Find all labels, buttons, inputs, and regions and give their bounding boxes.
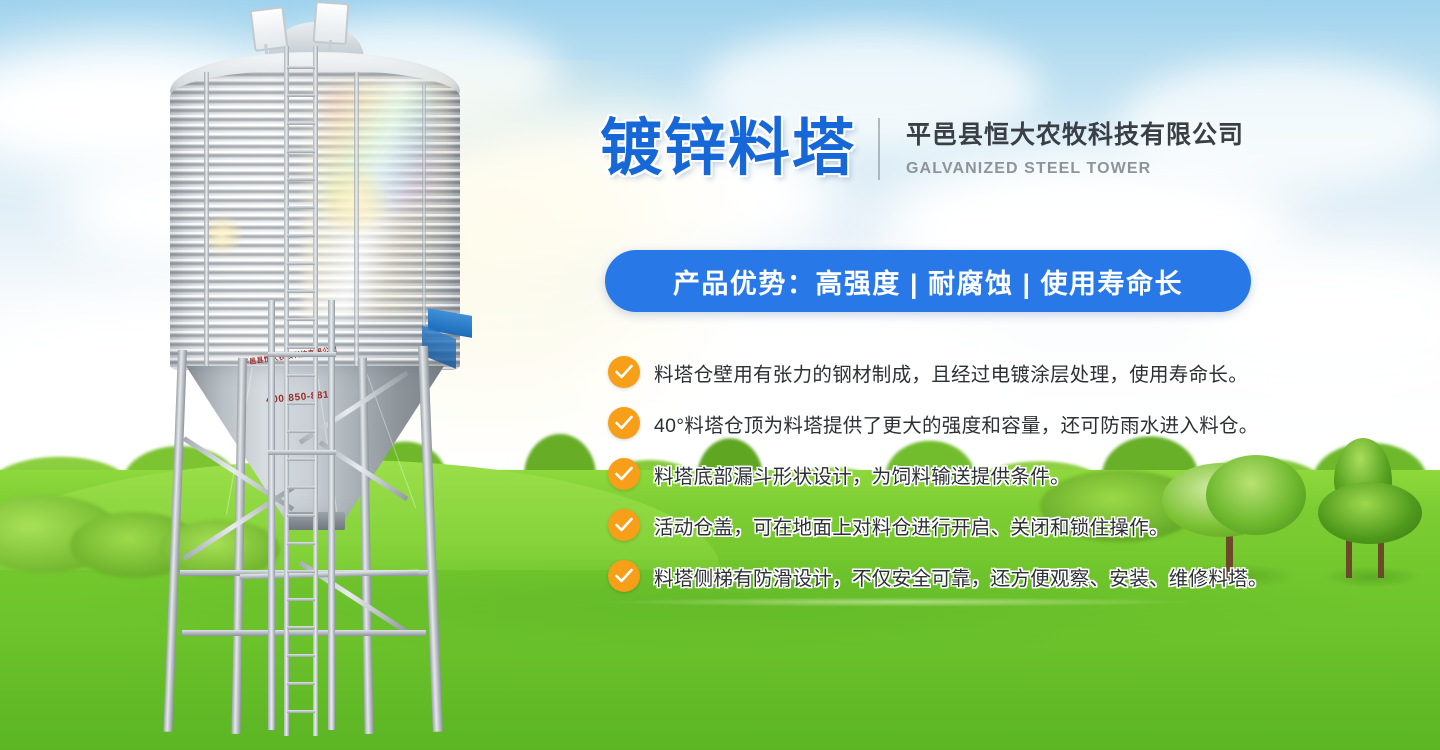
silo-ladder-frame [268,352,336,357]
silo-ladder-frame [328,300,335,730]
list-item: 40°料塔仓顶为料塔提供了更大的强度和容量，还可防雨水进入料仓。 [608,407,1308,439]
feature-text: 40°料塔仓顶为料塔提供了更大的强度和容量，还可防雨水进入料仓。 [654,409,1259,438]
list-item: 活动仓盖，可在地面上对料仓进行开启、关闭和锁住操作。 [608,509,1308,541]
product-advantage-text: 产品优势：高强度 | 耐腐蚀 | 使用寿命长 [673,262,1183,301]
list-item: 料塔仓壁用有张力的钢材制成，且经过电镀涂层处理，使用寿命长。 [608,356,1308,388]
check-icon [608,407,640,439]
silo-ladder-frame [268,450,336,455]
company-name: 平邑县恒大农牧科技有限公司 [906,120,1244,151]
check-icon [608,509,640,541]
list-item: 料塔侧梯有防滑设计，不仅安全可靠，还方便观察、安装、维修料塔。 [608,560,1308,592]
company-subtitle-en: GALVANIZED STEEL TOWER [906,160,1244,178]
silo-seam [422,84,426,364]
feature-text: 料塔侧梯有防滑设计，不仅安全可靠，还方便观察、安装、维修料塔。 [654,562,1268,591]
silo-side-ladder [284,46,318,736]
company-block: 平邑县恒大农牧科技有限公司 GALVANIZED STEEL TOWER [906,120,1244,178]
check-icon [608,458,640,490]
feature-text: 料塔底部漏斗形状设计，为饲料输送提供条件。 [654,460,1070,489]
feature-list: 料塔仓壁用有张力的钢材制成，且经过电镀涂层处理，使用寿命长。 40°料塔仓顶为料… [608,356,1308,611]
tree [1316,438,1426,586]
silo-leg [418,346,443,732]
silo-hatch-lid [250,6,289,52]
hero-content: 镀锌料塔 平邑县恒大农牧科技有限公司 GALVANIZED STEEL TOWE… [600,0,1300,750]
galvanized-silo-image: 平邑县恒大农牧科技有限公司 400-850-8818 [92,0,512,740]
list-item: 料塔底部漏斗形状设计，为饲料输送提供条件。 [608,458,1308,490]
check-icon [608,560,640,592]
silo-leg [163,350,187,732]
product-advantage-banner: 产品优势：高强度 | 耐腐蚀 | 使用寿命长 [605,250,1251,312]
silo-ladder-frame [268,300,275,730]
title-divider [878,118,880,180]
feature-text: 活动仓盖，可在地面上对料仓进行开启、关闭和锁住操作。 [654,511,1169,540]
feature-text: 料塔仓壁用有张力的钢材制成，且经过电镀涂层处理，使用寿命长。 [654,358,1248,387]
page-title: 镀锌料塔 [600,118,856,180]
silo-hatch-lid [313,1,350,45]
check-icon [608,356,640,388]
silo-seam [354,72,359,370]
title-row: 镀锌料塔 平邑县恒大农牧科技有限公司 GALVANIZED STEEL TOWE… [600,118,1244,180]
silo-seam [204,72,209,370]
hero-banner: 平邑县恒大农牧科技有限公司 400-850-8818 [0,0,1440,750]
